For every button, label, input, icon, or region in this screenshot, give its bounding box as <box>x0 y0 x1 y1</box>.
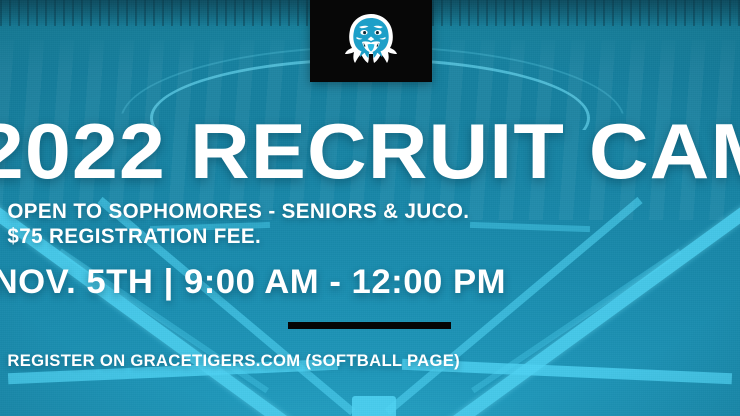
tiger-head-icon <box>340 11 402 69</box>
page-title: 2022 RECRUIT CAMP <box>0 112 740 190</box>
eligibility-line: OPEN TO SOPHOMORES - SENIORS & JUCO. <box>7 200 732 224</box>
recruit-camp-poster: 2022 RECRUIT CAMP OPEN TO SOPHOMORES - S… <box>0 0 740 416</box>
datetime-line: NOV. 5TH | 9:00 AM - 12:00 PM <box>0 263 740 302</box>
register-line: REGISTER ON GRACETIGERS.COM (SOFTBALL PA… <box>7 351 732 371</box>
divider-bar <box>288 322 451 329</box>
fee-line: $75 REGISTRATION FEE. <box>7 225 732 249</box>
logo-box <box>310 0 432 82</box>
